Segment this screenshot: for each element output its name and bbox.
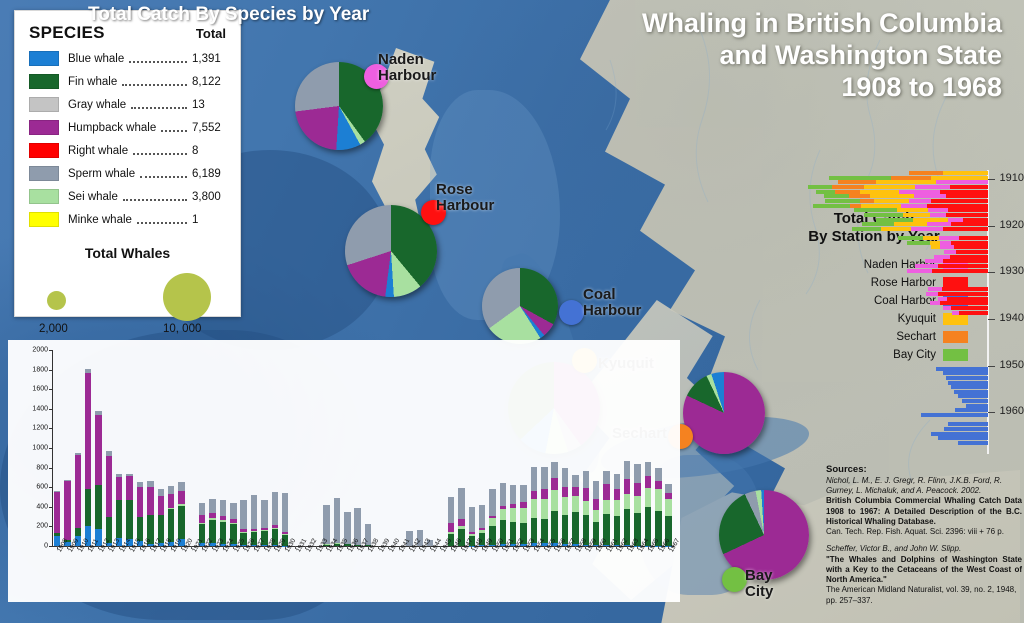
station-chart-year-tick	[988, 319, 995, 320]
station-bar-segment	[901, 204, 927, 208]
species-bar-segment	[479, 505, 485, 528]
station-bar-segment	[876, 180, 937, 184]
station-bar-segment	[955, 408, 988, 412]
station-chart-year-label: 1940	[1000, 312, 1024, 324]
station-bar-segment	[921, 413, 989, 417]
species-bar-segment	[531, 467, 537, 491]
pie-chart-coal	[482, 268, 558, 344]
species-bar-segment	[240, 500, 246, 529]
station-bar-1960	[921, 413, 989, 417]
station-bar-1929	[907, 269, 988, 273]
sources-spacer	[826, 537, 1022, 544]
station-bar-segment	[942, 287, 988, 291]
species-legend-row: Gray whale13	[15, 93, 240, 116]
species-bar-1939	[375, 350, 381, 546]
station-bar-segment	[938, 436, 988, 440]
station-bar-1910	[838, 180, 988, 184]
species-color-swatch	[29, 189, 59, 204]
total-whales-size-legend: 2,000 10, 000	[15, 265, 240, 327]
leader-dots	[131, 98, 187, 109]
station-bar-segment	[854, 208, 896, 212]
species-bar-segment	[220, 500, 226, 515]
species-bar-1912	[95, 350, 101, 546]
species-bar-1945	[437, 350, 443, 546]
station-bar-segment	[963, 218, 988, 222]
station-bar-segment	[860, 190, 900, 194]
station-bar-segment	[876, 218, 913, 222]
station-bar-segment	[962, 399, 988, 403]
station-bar-1919	[862, 222, 988, 226]
station-bar-1912	[816, 190, 988, 194]
pie-chart-sechart	[683, 372, 765, 454]
species-bar-segment	[137, 487, 143, 517]
station-bar-1952	[946, 376, 988, 380]
species-bar-segment	[624, 494, 630, 509]
species-chart-title: Total Catch By Species by Year	[88, 4, 369, 26]
species-legend-total-header: Total	[196, 26, 226, 41]
species-bar-1937	[354, 350, 360, 546]
leader-dots	[161, 121, 187, 132]
species-bar-segment	[199, 515, 205, 523]
station-bar-segment	[864, 213, 904, 217]
station-bar-segment	[850, 204, 861, 208]
station-bar-segment	[870, 194, 914, 198]
species-bar-segment	[541, 489, 547, 499]
station-bar-segment	[913, 218, 949, 222]
station-bar-segment	[849, 194, 870, 198]
species-legend-row: Right whale8	[15, 139, 240, 162]
station-bar-1911	[808, 185, 988, 189]
species-bar-1943	[417, 350, 423, 546]
species-chart-y-label: 1600	[14, 386, 48, 393]
station-bar-segment	[940, 190, 988, 194]
size-legend-label-large: 10, 000	[163, 323, 201, 335]
station-marker-coal[interactable]	[559, 300, 584, 325]
station-bar-segment	[950, 185, 988, 189]
station-bar-1928	[915, 264, 988, 268]
infographic-poster: SPECIES Total Blue whale1,391Fin whale8,…	[0, 0, 1024, 623]
station-bar-1951	[943, 371, 988, 375]
species-total: 13	[192, 99, 226, 111]
species-bar-segment	[593, 481, 599, 499]
species-bar-segment	[510, 485, 516, 504]
station-bar-segment	[829, 176, 891, 180]
station-bar-1923	[907, 241, 988, 245]
station-bar-segment	[944, 250, 956, 254]
species-bar-segment	[520, 485, 526, 503]
total-whales-legend-title: Total Whales	[15, 245, 240, 261]
station-bar-1917	[864, 213, 988, 217]
species-bar-segment	[168, 494, 174, 509]
source-2-publication: The American Midland Naturalist, vol. 39…	[826, 585, 1022, 605]
species-bar-1915	[126, 350, 132, 546]
station-bar-segment	[931, 176, 988, 180]
station-bar-1916	[854, 208, 988, 212]
species-bar-segment	[178, 506, 184, 539]
species-bar-segment	[531, 499, 537, 517]
species-bar-segment	[562, 468, 568, 487]
station-bar-1909	[829, 176, 988, 180]
species-bar-segment	[209, 499, 215, 513]
species-name: Gray whale	[68, 99, 126, 111]
species-bar-1958	[572, 350, 578, 546]
species-bar-segment	[85, 489, 91, 526]
station-bar-1935	[938, 297, 988, 301]
species-color-swatch	[29, 97, 59, 112]
species-bar-segment	[614, 500, 620, 516]
species-bar-1926	[240, 350, 246, 546]
station-bar-1937	[943, 306, 988, 310]
species-chart-y-tick	[49, 546, 52, 547]
station-bar-segment	[862, 222, 894, 226]
source-1-publication: Can. Tech. Rep. Fish. Aquat. Sci. 2396: …	[826, 527, 1022, 537]
species-bar-1951	[500, 350, 506, 546]
species-bar-segment	[551, 462, 557, 478]
station-bar-1956	[958, 394, 988, 398]
station-bar-segment	[852, 227, 881, 231]
species-bar-segment	[126, 476, 132, 501]
species-chart-y-label: 1400	[14, 405, 48, 412]
species-bar-1940	[386, 350, 392, 546]
station-bar-segment	[931, 245, 940, 249]
species-bar-1914	[116, 350, 122, 546]
station-bar-segment	[958, 394, 988, 398]
species-bar-1953	[520, 350, 526, 546]
species-bar-segment	[116, 500, 122, 537]
species-bar-1967	[665, 350, 671, 546]
station-bar-1918	[876, 218, 989, 222]
species-legend-row: Sperm whale6,189	[15, 162, 240, 185]
station-bar-segment	[959, 236, 988, 240]
species-bar-segment	[137, 517, 143, 541]
station-bar-1913	[824, 194, 988, 198]
station-bar-1915	[813, 204, 988, 208]
species-bar-segment	[655, 489, 661, 511]
station-bar-1962	[948, 422, 988, 426]
species-bar-1959	[583, 350, 589, 546]
station-bar-segment	[930, 213, 946, 217]
species-chart-y-label: 600	[14, 484, 48, 491]
species-chart-y-tick	[49, 526, 52, 527]
station-bar-segment	[951, 385, 988, 389]
species-bar-segment	[458, 519, 464, 526]
station-bar-1914	[825, 199, 988, 203]
species-chart-y-label: 1200	[14, 425, 48, 432]
station-bar-segment	[931, 432, 988, 436]
station-bar-1959	[955, 408, 988, 412]
species-bar-1910	[75, 350, 81, 546]
species-bar-1952	[510, 350, 516, 546]
species-bar-segment	[116, 477, 122, 500]
station-bar-segment	[928, 287, 941, 291]
species-name: Blue whale	[68, 53, 124, 65]
species-legend-row: Sei whale3,800	[15, 185, 240, 208]
species-name: Right whale	[68, 145, 128, 157]
species-bar-segment	[261, 500, 267, 528]
station-by-year-chart: Total Catch By Station by Year Naden Har…	[800, 168, 1024, 458]
species-bar-segment	[572, 487, 578, 495]
station-bar-1936	[930, 301, 988, 305]
species-bar-1927	[251, 350, 257, 546]
species-bar-segment	[334, 498, 340, 543]
station-bar-segment	[951, 222, 988, 226]
species-bar-segment	[583, 501, 589, 515]
species-bar-segment	[572, 475, 578, 488]
station-bar-segment	[899, 190, 940, 194]
leader-dots	[123, 190, 187, 201]
species-bar-segment	[106, 456, 112, 517]
species-bar-segment	[168, 509, 174, 541]
species-bar-segment	[489, 489, 495, 515]
station-bar-segment	[946, 376, 988, 380]
species-bar-segment	[583, 471, 589, 488]
species-bar-segment	[665, 484, 671, 493]
station-bar-1953	[948, 381, 988, 385]
species-bar-segment	[645, 488, 651, 507]
species-bar-segment	[158, 489, 164, 496]
station-bar-segment	[909, 199, 931, 203]
species-color-swatch	[29, 166, 59, 181]
station-bar-1958	[966, 404, 989, 408]
station-bar-1963	[944, 427, 988, 431]
species-color-swatch	[29, 120, 59, 135]
species-chart-y-tick	[49, 350, 52, 351]
species-bar-1935	[334, 350, 340, 546]
station-bar-segment	[944, 427, 988, 431]
species-bar-1955	[541, 350, 547, 546]
species-bar-segment	[178, 491, 184, 504]
species-chart-y-tick	[49, 389, 52, 390]
species-bar-1909	[64, 350, 70, 546]
species-bar-segment	[562, 487, 568, 497]
station-chart-year-label: 1950	[1000, 359, 1024, 371]
species-bar-segment	[551, 478, 557, 490]
species-chart-y-tick	[49, 507, 52, 508]
species-legend-title: SPECIES	[29, 23, 105, 43]
station-chart-year-tick	[988, 366, 995, 367]
species-chart-y-tick	[49, 428, 52, 429]
station-bar-segment	[864, 185, 916, 189]
species-bar-1942	[406, 350, 412, 546]
species-chart-y-tick	[49, 448, 52, 449]
station-bar-segment	[881, 227, 911, 231]
species-chart-y-label: 1800	[14, 366, 48, 373]
species-bar-1938	[365, 350, 371, 546]
species-bar-1934	[323, 350, 329, 546]
species-bar-segment	[448, 497, 454, 523]
station-bar-1908	[909, 171, 988, 175]
station-bar-segment	[894, 222, 927, 226]
species-bar-1924	[220, 350, 226, 546]
station-bar-1933	[928, 287, 988, 291]
species-bar-segment	[95, 415, 101, 485]
station-bar-segment	[824, 194, 849, 198]
source-2-authors: Scheffer, Victor B., and John W. Slipp.	[826, 544, 1022, 554]
species-bar-segment	[469, 507, 475, 532]
station-bar-segment	[958, 441, 988, 445]
station-bar-segment	[930, 241, 941, 245]
species-bar-1911	[85, 350, 91, 546]
species-bar-segment	[230, 503, 236, 519]
species-bar-segment	[458, 488, 464, 519]
station-bar-segment	[838, 180, 875, 184]
species-bar-segment	[614, 489, 620, 500]
species-bar-1930	[282, 350, 288, 546]
species-name: Minke whale	[68, 214, 132, 226]
station-bar-segment	[943, 259, 988, 263]
species-chart-y-label: 1000	[14, 445, 48, 452]
station-chart-year-tick	[988, 272, 995, 273]
species-bar-1966	[655, 350, 661, 546]
station-bar-1964	[931, 432, 988, 436]
species-bar-segment	[126, 500, 132, 539]
species-bar-segment	[572, 496, 578, 512]
station-bar-segment	[966, 404, 989, 408]
species-bar-segment	[510, 508, 516, 522]
leader-dots	[137, 213, 187, 224]
species-bar-1946	[448, 350, 454, 546]
species-bar-segment	[147, 487, 153, 515]
species-bar-segment	[541, 467, 547, 489]
species-bar-segment	[520, 508, 526, 524]
species-bar-segment	[603, 471, 609, 485]
station-bar-segment	[940, 301, 988, 305]
species-name: Humpback whale	[68, 122, 156, 134]
species-bar-1933	[313, 350, 319, 546]
species-bar-1922	[199, 350, 205, 546]
species-chart-y-label: 2000	[14, 347, 48, 354]
station-bar-segment	[903, 213, 929, 217]
station-bar-segment	[959, 311, 988, 315]
leader-dots	[122, 75, 187, 86]
station-bar-segment	[925, 259, 944, 263]
species-chart-y-label: 0	[14, 543, 48, 550]
species-bar-segment	[531, 491, 537, 500]
species-bar-segment	[645, 462, 651, 477]
species-bar-segment	[614, 474, 620, 489]
station-bar-segment	[947, 297, 988, 301]
species-total: 3,800	[192, 191, 226, 203]
species-bar-segment	[634, 483, 640, 496]
station-chart-year-label: 1920	[1000, 219, 1024, 231]
station-label-line2: City	[745, 584, 773, 600]
species-color-swatch	[29, 143, 59, 158]
species-bar-segment	[593, 499, 599, 510]
species-name: Fin whale	[68, 76, 117, 88]
station-bar-segment	[907, 241, 929, 245]
station-bar-segment	[816, 190, 835, 194]
sources-heading: Sources:	[826, 464, 1022, 475]
station-bar-segment	[954, 390, 988, 394]
species-color-swatch	[29, 51, 59, 66]
station-bar-segment	[951, 306, 988, 310]
species-by-year-chart: 0200400600800100012001400160018002000190…	[8, 340, 680, 602]
species-bar-1918	[158, 350, 164, 546]
station-marker-baycity[interactable]	[722, 567, 747, 592]
station-label-line2: Harbour	[378, 68, 436, 84]
species-bar-segment	[665, 499, 671, 516]
species-bar-segment	[551, 490, 557, 511]
species-total: 1,391	[192, 53, 226, 65]
station-bar-segment	[928, 208, 948, 212]
species-chart-y-tick	[49, 468, 52, 469]
species-bar-1929	[272, 350, 278, 546]
species-bar-1960	[593, 350, 599, 546]
species-bar-segment	[655, 468, 661, 481]
species-bar-segment	[168, 486, 174, 494]
station-bar-1938	[952, 311, 988, 315]
species-bar-segment	[634, 496, 640, 514]
station-label-line2: Harbour	[436, 198, 494, 214]
station-chart-year-label: 1960	[1000, 405, 1024, 417]
station-bar-segment	[940, 241, 951, 245]
station-bar-1925	[944, 250, 988, 254]
leader-dots	[129, 52, 187, 63]
species-bar-segment	[75, 528, 81, 536]
species-bar-1957	[562, 350, 568, 546]
station-label-coal: CoalHarbour	[583, 287, 641, 319]
species-bar-1941	[396, 350, 402, 546]
species-chart-y-tick	[49, 370, 52, 371]
species-bar-segment	[500, 483, 506, 506]
species-total: 8,122	[192, 76, 226, 88]
station-bar-1922	[898, 236, 988, 240]
station-bar-segment	[927, 204, 988, 208]
station-label-baycity: BayCity	[745, 568, 773, 600]
station-bar-segment	[909, 171, 943, 175]
species-bar-1936	[344, 350, 350, 546]
station-bar-segment	[931, 199, 988, 203]
species-bar-1913	[106, 350, 112, 546]
species-bar-1947	[458, 350, 464, 546]
source-1-title: British Columbia Commercial Whaling Catc…	[826, 496, 1022, 527]
station-bar-segment	[915, 264, 937, 268]
title-line-1: Whaling in British Columbia	[502, 8, 1002, 40]
species-bar-1956	[551, 350, 557, 546]
station-bar-segment	[948, 208, 988, 212]
station-bar-1966	[958, 441, 988, 445]
station-chart-year-label: 1910	[1000, 172, 1024, 184]
species-bar-segment	[603, 500, 609, 514]
species-legend-rows: Blue whale1,391Fin whale8,122Gray whale1…	[15, 47, 240, 231]
station-bar-segment	[808, 185, 832, 189]
station-chart-plot	[808, 170, 988, 454]
species-bar-segment	[655, 481, 661, 489]
species-bar-segment	[158, 496, 164, 515]
species-bar-1963	[624, 350, 630, 546]
station-bar-segment	[835, 190, 860, 194]
station-bar-1920	[852, 227, 988, 231]
station-bar-1950	[936, 367, 988, 371]
station-label-naden: NadenHarbour	[378, 52, 436, 84]
station-bar-segment	[861, 204, 901, 208]
species-bar-segment	[282, 493, 288, 532]
species-name: Sei whale	[68, 191, 118, 203]
station-bar-segment	[936, 180, 988, 184]
station-bar-segment	[938, 292, 988, 296]
title-line-3: 1908 to 1968	[502, 72, 1002, 104]
station-label-line2: Harbour	[583, 303, 641, 319]
species-bar-segment	[500, 509, 506, 520]
species-bar-segment	[85, 373, 91, 489]
station-bar-segment	[923, 236, 939, 240]
station-bar-segment	[825, 199, 859, 203]
species-chart-y-label: 400	[14, 503, 48, 510]
station-bar-segment	[860, 199, 875, 203]
species-bar-1932	[303, 350, 309, 546]
station-bar-segment	[946, 213, 988, 217]
species-bar-1928	[261, 350, 267, 546]
